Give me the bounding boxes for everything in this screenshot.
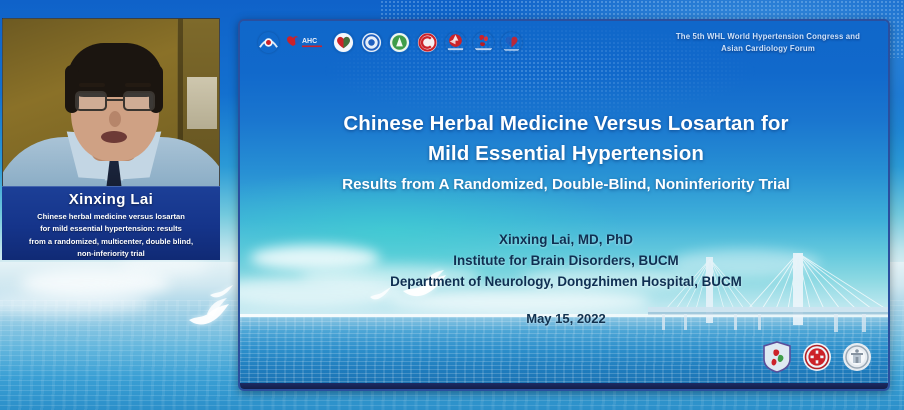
dove-icon (185, 296, 231, 330)
slide-bottom-band (240, 383, 890, 389)
whl-arc-logo (258, 32, 279, 53)
eyeglass-lens (75, 91, 107, 111)
blue-ring-logo (361, 32, 382, 53)
cahc-heart-logo: AHC (286, 33, 326, 52)
webcam-video-panel[interactable] (2, 18, 220, 206)
institute-silver-logo (842, 341, 872, 373)
speaker-eyebrow (79, 83, 105, 87)
speaker-eyebrow (125, 83, 151, 87)
red-c-circle-logo (417, 32, 438, 53)
speaker-nameplate: Xinxing Lai Chinese herbal medicine vers… (2, 186, 220, 260)
speaker-talk-title-line: non-inferiority trial (2, 247, 220, 259)
eyeglass-lens (123, 91, 155, 111)
eyeglass-bridge (107, 99, 123, 101)
blue-heart-logo (501, 32, 522, 53)
congress-header: The 5th WHL World Hypertension Congress … (662, 31, 874, 54)
speaker-name: Xinxing Lai (2, 190, 220, 210)
red-sponsor-logo (473, 32, 494, 53)
bucm-shield-logo (762, 341, 792, 373)
slide-title: Chinese Herbal Medicine Versus Losartan … (280, 109, 852, 169)
speaker-talk-title-line: Chinese herbal medicine versus losartan (2, 210, 220, 222)
speaker-nose (109, 111, 121, 127)
slide-date: May 15, 2022 (280, 311, 852, 326)
webcam-background-paper (187, 77, 217, 129)
slide-subtitle: Results from A Randomized, Double-Blind,… (280, 174, 852, 196)
author-affiliation: Institute for Brain Disorders, BUCM (280, 250, 852, 271)
dongzhimen-hospital-logo (802, 341, 832, 373)
green-circle-logo (389, 32, 410, 53)
svg-text:AHC: AHC (302, 38, 317, 45)
presentation-slide[interactable]: AHC (238, 19, 890, 391)
institution-logo-row (762, 341, 872, 373)
speaker-mouth (101, 131, 127, 143)
author-name: Xinxing Lai, MD, PhD (280, 229, 852, 250)
congress-header-line: The 5th WHL World Hypertension Congress … (662, 31, 874, 43)
slide-title-line: Chinese Herbal Medicine Versus Losartan … (280, 109, 852, 139)
red-heart-circle-logo (333, 32, 354, 53)
speaker-talk-title-line: from a randomized, multicenter, double b… (2, 235, 220, 247)
speaker-talk-title-line: for mild essential hypertension: results (2, 222, 220, 234)
dove-icon (208, 282, 234, 300)
eyeglasses-icon (75, 91, 155, 111)
author-affiliation: Department of Neurology, Dongzhimen Hosp… (280, 271, 852, 292)
organization-logo-strip: AHC (258, 32, 522, 53)
red-pinwheel-logo (445, 32, 466, 53)
author-block: Xinxing Lai, MD, PhD Institute for Brain… (280, 229, 852, 292)
slide-title-line: Mild Essential Hypertension (280, 139, 852, 169)
congress-header-line: Asian Cardiology Forum (662, 43, 874, 55)
